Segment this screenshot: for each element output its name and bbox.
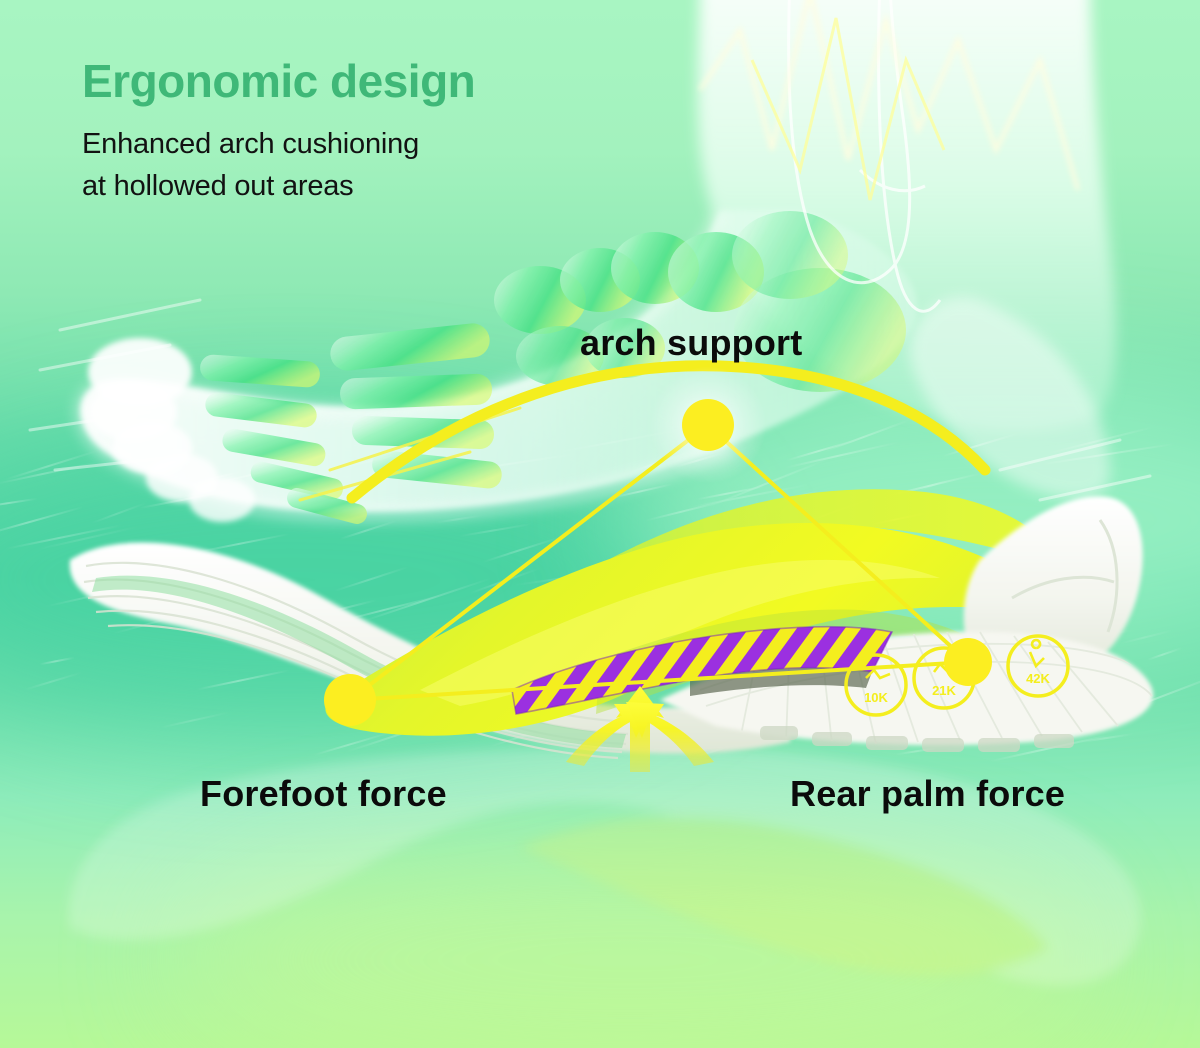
sole-badge-10k: 10K — [864, 690, 888, 705]
subtitle-line-1: Enhanced arch cushioning — [82, 128, 419, 161]
sole-badge-21k: 21K — [932, 683, 956, 698]
callout-dot-forefoot[interactable] — [324, 674, 376, 726]
callout-connector-lines — [350, 425, 968, 700]
callout-label-arch-support: arch support — [580, 322, 802, 364]
force-arrows-group — [566, 686, 714, 772]
product-feature-graphic: 10K 21K 42K Ergonomic design Enhanced ar… — [0, 0, 1200, 1048]
subtitle-line-2: at hollowed out areas — [82, 170, 353, 203]
callout-label-forefoot-force: Forefoot force — [200, 773, 447, 815]
callout-dot-arch[interactable] — [682, 399, 734, 451]
callout-label-rear-palm-force: Rear palm force — [790, 773, 1065, 815]
sole-badge-42k: 42K — [1026, 671, 1050, 686]
page-title: Ergonomic design — [82, 54, 475, 108]
callout-dot-rear[interactable] — [944, 638, 992, 686]
